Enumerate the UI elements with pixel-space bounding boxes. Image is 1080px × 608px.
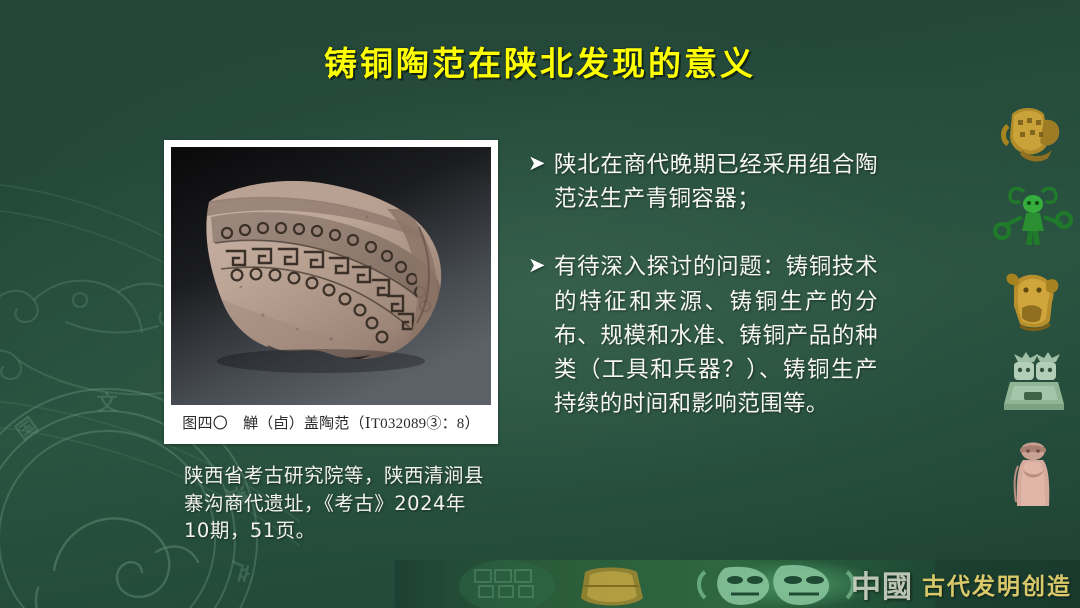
- figure-photo: [171, 147, 491, 405]
- banner-title: 古代发明创造: [922, 567, 1072, 601]
- banner-brand-mark: 中國: [851, 562, 913, 606]
- bullet-text-2: 有待深入探讨的问题：铸铜技术的特征和来源、铸铜生产的分布、规模和水准、铸铜产品的…: [554, 250, 878, 421]
- page-title: 铸铜陶范在陕北发现的意义: [324, 46, 756, 82]
- pottery-figurine-icon: [990, 432, 1076, 506]
- svg-text:产: 产: [225, 559, 253, 585]
- bronze-vessel-gold-icon: [990, 96, 1076, 170]
- svg-text:文: 文: [97, 391, 119, 415]
- jade-twin-figures-icon: [990, 348, 1076, 422]
- figure-card: 图四〇 觯（卣）盖陶范（ⅠT032089③：8）: [164, 140, 498, 444]
- artifact-thumbnail-strip: [990, 96, 1076, 516]
- bullet-list: ➤ 陕北在商代晚期已经采用组合陶范法生产青铜容器； ➤ 有待深入探讨的问题：铸铜…: [528, 148, 878, 455]
- bullet-item-1: ➤ 陕北在商代晚期已经采用组合陶范法生产青铜容器；: [528, 148, 878, 216]
- arrow-bullet-icon: ➤: [528, 148, 554, 180]
- footer-banner: 中國 古代发明创造: [395, 560, 1080, 608]
- bronze-animal-gold-icon: [990, 264, 1076, 338]
- title-bar: 铸铜陶范在陕北发现的意义: [0, 46, 1080, 82]
- figure-caption: 图四〇 觯（卣）盖陶范（ⅠT032089③：8）: [171, 405, 491, 444]
- bullet-item-2: ➤ 有待深入探讨的问题：铸铜技术的特征和来源、铸铜生产的分布、规模和水准、铸铜产…: [528, 250, 878, 421]
- clay-mold-fragment-illustration: [171, 147, 491, 405]
- svg-text:国: 国: [12, 413, 43, 445]
- source-citation: 陕西省考古研究院等，陕西清涧县寨沟商代遗址，《考古》2024年10期，51页。: [184, 462, 484, 545]
- bullet-text-1: 陕北在商代晚期已经采用组合陶范法生产青铜容器；: [554, 148, 878, 216]
- arrow-bullet-icon: ➤: [528, 250, 554, 282]
- slide-root: 中 国 文 化 遗 产 铸铜陶范在陕北发现的意义: [0, 0, 1080, 608]
- bronze-figure-green-icon: [990, 180, 1076, 254]
